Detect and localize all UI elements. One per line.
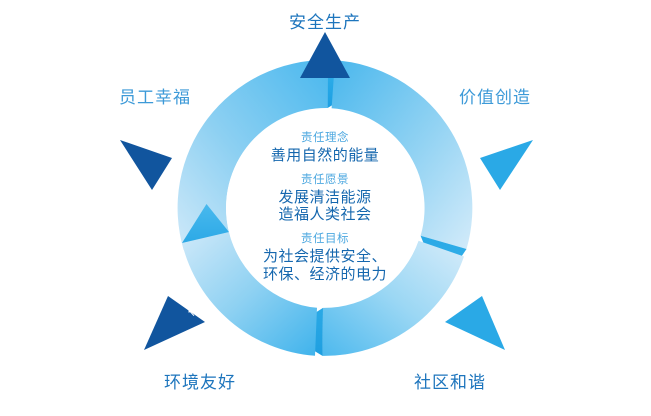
center-block-goal: 责任目标 为社会提供安全、 环保、经济的电力 (220, 233, 430, 283)
center-line: 为社会提供安全、 (220, 249, 430, 266)
outer-label-safety-production: 安全生产 (289, 8, 361, 33)
outward-arrow-lower-right (445, 296, 505, 350)
center-text-group: 责任理念 善用自然的能量 责任愿景 发展清洁能源 造福人类社会 责任目标 为社会… (220, 132, 430, 284)
center-heading-goal: 责任目标 (220, 233, 430, 246)
center-heading-philosophy: 责任理念 (220, 132, 430, 145)
center-line: 造福人类社会 (220, 208, 430, 225)
center-body-goal: 为社会提供安全、 环保、经济的电力 (220, 249, 430, 284)
outer-label-employee-happiness: 员工幸福 (119, 83, 191, 108)
center-line: 善用自然的能量 (220, 148, 430, 165)
diagram-canvas: 安全生产 员工幸福 价值创造 环境友好 社区和谐 责任考核 责任治理 责任实践 … (0, 0, 651, 416)
outer-label-environment-friendly: 环境友好 (164, 368, 236, 393)
outer-label-community-harmony: 社区和谐 (414, 368, 486, 393)
center-line: 环保、经济的电力 (220, 267, 430, 284)
center-block-vision: 责任愿景 发展清洁能源 造福人类社会 (220, 174, 430, 224)
outward-arrow-top (300, 32, 350, 78)
center-body-philosophy: 善用自然的能量 (220, 148, 430, 165)
center-body-vision: 发展清洁能源 造福人类社会 (220, 190, 430, 225)
center-block-philosophy: 责任理念 善用自然的能量 (220, 132, 430, 165)
center-heading-vision: 责任愿景 (220, 174, 430, 187)
outward-arrow-upper-left (120, 140, 172, 190)
center-line: 发展清洁能源 (220, 190, 430, 207)
